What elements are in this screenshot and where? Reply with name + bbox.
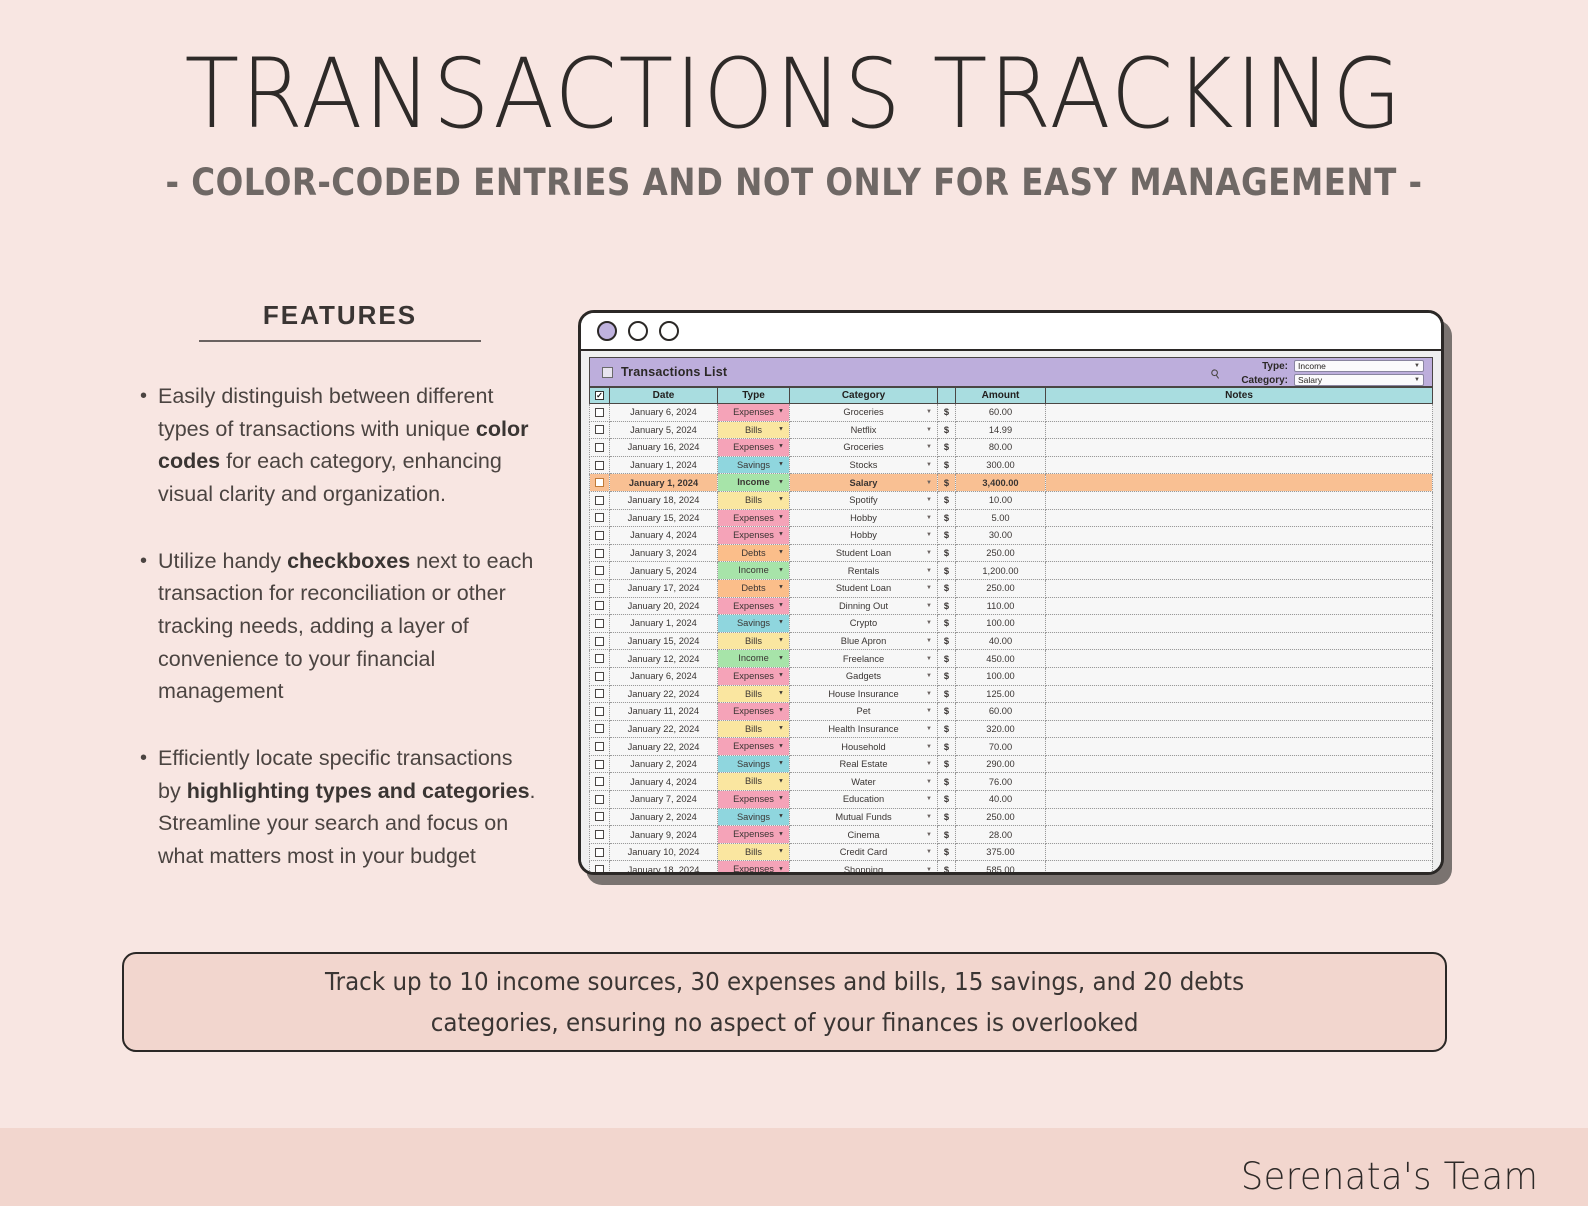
table-row[interactable]: January 18, 2024Expenses▼Shopping▼$585.0…: [590, 861, 1433, 872]
checkbox-icon[interactable]: [595, 425, 604, 434]
cell-category[interactable]: Cinema▼: [790, 826, 938, 844]
cell-amount[interactable]: 250.00: [956, 544, 1046, 562]
table-row[interactable]: January 11, 2024Expenses▼Pet▼$60.00: [590, 703, 1433, 721]
table-row[interactable]: January 5, 2024Bills▼Netflix▼$14.99: [590, 421, 1433, 439]
chevron-down-icon[interactable]: ▼: [926, 638, 932, 644]
chevron-down-icon[interactable]: ▼: [778, 633, 784, 650]
cell-category[interactable]: Crypto▼: [790, 615, 938, 633]
chevron-down-icon[interactable]: ▼: [926, 462, 932, 468]
chevron-down-icon[interactable]: ▼: [926, 708, 932, 714]
cell-amount[interactable]: 76.00: [956, 773, 1046, 791]
type-badge[interactable]: Debts▼: [718, 580, 789, 597]
cell-notes[interactable]: [1046, 544, 1433, 562]
cell-date[interactable]: January 4, 2024: [610, 527, 718, 545]
checkbox-icon[interactable]: [595, 848, 604, 857]
row-checkbox-cell[interactable]: [590, 685, 610, 703]
chevron-down-icon[interactable]: ▼: [778, 615, 784, 632]
chevron-down-icon[interactable]: ▼: [926, 779, 932, 785]
type-badge[interactable]: Bills▼: [718, 686, 789, 703]
cell-date[interactable]: January 5, 2024: [610, 562, 718, 580]
chevron-down-icon[interactable]: ▼: [778, 422, 784, 439]
checkbox-icon[interactable]: [595, 584, 604, 593]
cell-type[interactable]: Savings▼: [718, 615, 790, 633]
cell-category[interactable]: Spotify▼: [790, 491, 938, 509]
cell-amount[interactable]: 110.00: [956, 597, 1046, 615]
table-row[interactable]: January 2, 2024Savings▼Real Estate▼$290.…: [590, 755, 1433, 773]
chevron-down-icon[interactable]: ▼: [926, 691, 932, 697]
cell-amount[interactable]: 250.00: [956, 808, 1046, 826]
cell-date[interactable]: January 12, 2024: [610, 650, 718, 668]
chevron-down-icon[interactable]: ▼: [778, 527, 784, 544]
cell-type[interactable]: Savings▼: [718, 808, 790, 826]
cell-category[interactable]: Credit Card▼: [790, 843, 938, 861]
table-row[interactable]: January 6, 2024Expenses▼Groceries▼$60.00: [590, 404, 1433, 422]
table-row[interactable]: January 4, 2024Bills▼Water▼$76.00: [590, 773, 1433, 791]
column-header-notes[interactable]: Notes: [1046, 388, 1433, 404]
cell-category[interactable]: Water▼: [790, 773, 938, 791]
cell-category[interactable]: Health Insurance▼: [790, 720, 938, 738]
row-checkbox-cell[interactable]: [590, 615, 610, 633]
cell-notes[interactable]: [1046, 527, 1433, 545]
chevron-down-icon[interactable]: ▼: [778, 686, 784, 703]
cell-type[interactable]: Expenses▼: [718, 861, 790, 872]
cell-date[interactable]: January 4, 2024: [610, 773, 718, 791]
checkbox-icon[interactable]: [595, 830, 604, 839]
cell-date[interactable]: January 22, 2024: [610, 685, 718, 703]
cell-notes[interactable]: [1046, 632, 1433, 650]
cell-date[interactable]: January 2, 2024: [610, 808, 718, 826]
checkbox-icon[interactable]: [595, 654, 604, 663]
row-checkbox-cell[interactable]: [590, 826, 610, 844]
search-icon[interactable]: ⚲: [1208, 366, 1223, 383]
cell-notes[interactable]: [1046, 562, 1433, 580]
table-row[interactable]: January 2, 2024Savings▼Mutual Funds▼$250…: [590, 808, 1433, 826]
filter-category-select[interactable]: Salary ▼: [1294, 374, 1424, 386]
table-row[interactable]: January 7, 2024Expenses▼Education▼$40.00: [590, 791, 1433, 809]
cell-amount[interactable]: 320.00: [956, 720, 1046, 738]
select-all-checkbox-icon[interactable]: ✓: [595, 391, 604, 400]
table-row[interactable]: January 17, 2024Debts▼Student Loan▼$250.…: [590, 579, 1433, 597]
cell-category[interactable]: Rentals▼: [790, 562, 938, 580]
chevron-down-icon[interactable]: ▼: [926, 744, 932, 750]
cell-type[interactable]: Expenses▼: [718, 738, 790, 756]
checkbox-icon[interactable]: [595, 707, 604, 716]
cell-notes[interactable]: [1046, 791, 1433, 809]
cell-category[interactable]: Hobby▼: [790, 527, 938, 545]
chevron-down-icon[interactable]: ▼: [778, 861, 784, 872]
checkbox-icon[interactable]: [595, 461, 604, 470]
chevron-down-icon[interactable]: ▼: [926, 444, 932, 450]
chevron-down-icon[interactable]: ▼: [926, 849, 932, 855]
checkbox-icon[interactable]: [595, 443, 604, 452]
checkbox-icon[interactable]: [595, 865, 604, 872]
chevron-down-icon[interactable]: ▼: [926, 603, 932, 609]
type-badge[interactable]: Savings▼: [718, 756, 789, 773]
checkbox-icon[interactable]: [595, 777, 604, 786]
type-badge[interactable]: Savings▼: [718, 457, 789, 474]
cell-amount[interactable]: 300.00: [956, 456, 1046, 474]
cell-category[interactable]: Student Loan▼: [790, 544, 938, 562]
cell-category[interactable]: Netflix▼: [790, 421, 938, 439]
type-badge[interactable]: Bills▼: [718, 492, 789, 509]
cell-notes[interactable]: [1046, 685, 1433, 703]
row-checkbox-cell[interactable]: [590, 755, 610, 773]
chevron-down-icon[interactable]: ▼: [778, 510, 784, 527]
cell-notes[interactable]: [1046, 509, 1433, 527]
row-checkbox-cell[interactable]: [590, 703, 610, 721]
column-header-type[interactable]: Type: [718, 388, 790, 404]
row-checkbox-cell[interactable]: [590, 791, 610, 809]
cell-notes[interactable]: [1046, 667, 1433, 685]
cell-amount[interactable]: 70.00: [956, 738, 1046, 756]
chevron-down-icon[interactable]: ▼: [778, 721, 784, 738]
window-dot-3-icon[interactable]: [659, 321, 679, 341]
checkbox-icon[interactable]: [595, 637, 604, 646]
chevron-down-icon[interactable]: ▼: [926, 585, 932, 591]
checkbox-icon[interactable]: [595, 724, 604, 733]
cell-date[interactable]: January 1, 2024: [610, 474, 718, 492]
type-badge[interactable]: Expenses▼: [718, 826, 789, 843]
cell-notes[interactable]: [1046, 738, 1433, 756]
chevron-down-icon[interactable]: ▼: [778, 545, 784, 562]
cell-type[interactable]: Expenses▼: [718, 667, 790, 685]
chevron-down-icon[interactable]: ▼: [778, 826, 784, 843]
type-badge[interactable]: Expenses▼: [718, 439, 789, 456]
cell-type[interactable]: Expenses▼: [718, 826, 790, 844]
cell-amount[interactable]: 290.00: [956, 755, 1046, 773]
checkbox-icon[interactable]: [595, 742, 604, 751]
checkbox-icon[interactable]: [595, 812, 604, 821]
cell-notes[interactable]: [1046, 439, 1433, 457]
type-badge[interactable]: Expenses▼: [718, 703, 789, 720]
type-badge[interactable]: Expenses▼: [718, 791, 789, 808]
cell-date[interactable]: January 15, 2024: [610, 632, 718, 650]
chevron-down-icon[interactable]: ▼: [778, 492, 784, 509]
checkbox-icon[interactable]: [595, 672, 604, 681]
cell-date[interactable]: January 20, 2024: [610, 597, 718, 615]
cell-notes[interactable]: [1046, 474, 1433, 492]
cell-type[interactable]: Debts▼: [718, 544, 790, 562]
chevron-down-icon[interactable]: ▼: [778, 580, 784, 597]
chevron-down-icon[interactable]: ▼: [778, 457, 784, 474]
cell-type[interactable]: Expenses▼: [718, 703, 790, 721]
cell-category[interactable]: Pet▼: [790, 703, 938, 721]
cell-date[interactable]: January 1, 2024: [610, 456, 718, 474]
table-row[interactable]: January 10, 2024Bills▼Credit Card▼$375.0…: [590, 843, 1433, 861]
table-row[interactable]: January 3, 2024Debts▼Student Loan▼$250.0…: [590, 544, 1433, 562]
cell-type[interactable]: Bills▼: [718, 421, 790, 439]
chevron-down-icon[interactable]: ▼: [926, 427, 932, 433]
cell-type[interactable]: Income▼: [718, 562, 790, 580]
row-checkbox-cell[interactable]: [590, 650, 610, 668]
cell-type[interactable]: Bills▼: [718, 685, 790, 703]
cell-amount[interactable]: 10.00: [956, 491, 1046, 509]
cell-notes[interactable]: [1046, 773, 1433, 791]
type-badge[interactable]: Bills▼: [718, 633, 789, 650]
cell-notes[interactable]: [1046, 404, 1433, 422]
cell-amount[interactable]: 40.00: [956, 632, 1046, 650]
chevron-down-icon[interactable]: ▼: [926, 673, 932, 679]
table-row[interactable]: January 1, 2024Savings▼Crypto▼$100.00: [590, 615, 1433, 633]
cell-type[interactable]: Bills▼: [718, 720, 790, 738]
cell-notes[interactable]: [1046, 421, 1433, 439]
cell-notes[interactable]: [1046, 861, 1433, 872]
table-row[interactable]: January 5, 2024Income▼Rentals▼$1,200.00: [590, 562, 1433, 580]
checkbox-icon[interactable]: [595, 795, 604, 804]
cell-type[interactable]: Expenses▼: [718, 527, 790, 545]
checkbox-icon[interactable]: [595, 513, 604, 522]
select-all-header[interactable]: ✓: [590, 388, 610, 404]
checkbox-icon[interactable]: [595, 566, 604, 575]
cell-notes[interactable]: [1046, 720, 1433, 738]
chevron-down-icon[interactable]: ▼: [926, 832, 932, 838]
cell-date[interactable]: January 6, 2024: [610, 404, 718, 422]
table-row[interactable]: January 22, 2024Bills▼House Insurance▼$1…: [590, 685, 1433, 703]
table-row[interactable]: January 1, 2024Savings▼Stocks▼$300.00: [590, 456, 1433, 474]
cell-date[interactable]: January 1, 2024: [610, 615, 718, 633]
type-badge[interactable]: Expenses▼: [718, 738, 789, 755]
cell-date[interactable]: January 6, 2024: [610, 667, 718, 685]
type-badge[interactable]: Expenses▼: [718, 527, 789, 544]
type-badge[interactable]: Expenses▼: [718, 598, 789, 615]
cell-date[interactable]: January 2, 2024: [610, 755, 718, 773]
type-badge[interactable]: Savings▼: [718, 809, 789, 826]
row-checkbox-cell[interactable]: [590, 808, 610, 826]
cell-date[interactable]: January 18, 2024: [610, 491, 718, 509]
cell-category[interactable]: Education▼: [790, 791, 938, 809]
type-badge[interactable]: Bills▼: [718, 422, 789, 439]
chevron-down-icon[interactable]: ▼: [926, 726, 932, 732]
cell-date[interactable]: January 10, 2024: [610, 843, 718, 861]
cell-category[interactable]: Shopping▼: [790, 861, 938, 872]
cell-amount[interactable]: 1,200.00: [956, 562, 1046, 580]
cell-type[interactable]: Expenses▼: [718, 791, 790, 809]
cell-amount[interactable]: 125.00: [956, 685, 1046, 703]
type-badge[interactable]: Bills▼: [718, 721, 789, 738]
cell-amount[interactable]: 5.00: [956, 509, 1046, 527]
cell-category[interactable]: Freelance▼: [790, 650, 938, 668]
chevron-down-icon[interactable]: ▼: [926, 409, 932, 415]
cell-category[interactable]: Mutual Funds▼: [790, 808, 938, 826]
cell-category[interactable]: Groceries▼: [790, 404, 938, 422]
cell-amount[interactable]: 3,400.00: [956, 474, 1046, 492]
cell-category[interactable]: Groceries▼: [790, 439, 938, 457]
checkbox-icon[interactable]: [595, 478, 604, 487]
table-row[interactable]: January 9, 2024Expenses▼Cinema▼$28.00: [590, 826, 1433, 844]
chevron-down-icon[interactable]: ▼: [926, 867, 932, 872]
chevron-down-icon[interactable]: ▼: [778, 404, 784, 421]
type-badge[interactable]: Income▼: [718, 562, 789, 579]
row-checkbox-cell[interactable]: [590, 527, 610, 545]
chevron-down-icon[interactable]: ▼: [778, 844, 784, 861]
type-badge[interactable]: Expenses▼: [718, 510, 789, 527]
row-checkbox-cell[interactable]: [590, 738, 610, 756]
chevron-down-icon[interactable]: ▼: [778, 668, 784, 685]
table-row[interactable]: January 4, 2024Expenses▼Hobby▼$30.00: [590, 527, 1433, 545]
cell-date[interactable]: January 9, 2024: [610, 826, 718, 844]
row-checkbox-cell[interactable]: [590, 509, 610, 527]
table-row[interactable]: January 22, 2024Expenses▼Household▼$70.0…: [590, 738, 1433, 756]
cell-date[interactable]: January 18, 2024: [610, 861, 718, 872]
table-row[interactable]: January 15, 2024Expenses▼Hobby▼$5.00: [590, 509, 1433, 527]
type-badge[interactable]: Bills▼: [718, 773, 789, 790]
cell-date[interactable]: January 17, 2024: [610, 579, 718, 597]
table-row[interactable]: January 1, 2024Income▼Salary▼$3,400.00: [590, 474, 1433, 492]
chevron-down-icon[interactable]: ▼: [926, 497, 932, 503]
cell-amount[interactable]: 250.00: [956, 579, 1046, 597]
column-header-date[interactable]: Date: [610, 388, 718, 404]
cell-date[interactable]: January 5, 2024: [610, 421, 718, 439]
chevron-down-icon[interactable]: ▼: [926, 480, 932, 486]
cell-amount[interactable]: 28.00: [956, 826, 1046, 844]
toolbar-checkbox-icon[interactable]: [602, 367, 613, 378]
cell-notes[interactable]: [1046, 703, 1433, 721]
row-checkbox-cell[interactable]: [590, 597, 610, 615]
cell-type[interactable]: Savings▼: [718, 755, 790, 773]
chevron-down-icon[interactable]: ▼: [778, 773, 784, 790]
cell-category[interactable]: Dinning Out▼: [790, 597, 938, 615]
chevron-down-icon[interactable]: ▼: [926, 761, 932, 767]
chevron-down-icon[interactable]: ▼: [778, 439, 784, 456]
cell-type[interactable]: Expenses▼: [718, 404, 790, 422]
cell-type[interactable]: Expenses▼: [718, 439, 790, 457]
cell-date[interactable]: January 11, 2024: [610, 703, 718, 721]
chevron-down-icon[interactable]: ▼: [926, 814, 932, 820]
cell-type[interactable]: Income▼: [718, 650, 790, 668]
type-badge[interactable]: Expenses▼: [718, 404, 789, 421]
chevron-down-icon[interactable]: ▼: [778, 562, 784, 579]
chevron-down-icon[interactable]: ▼: [926, 620, 932, 626]
cell-amount[interactable]: 60.00: [956, 404, 1046, 422]
cell-amount[interactable]: 40.00: [956, 791, 1046, 809]
cell-amount[interactable]: 375.00: [956, 843, 1046, 861]
window-dot-2-icon[interactable]: [628, 321, 648, 341]
cell-type[interactable]: Bills▼: [718, 491, 790, 509]
type-badge[interactable]: Income▼: [718, 474, 789, 491]
cell-type[interactable]: Bills▼: [718, 632, 790, 650]
cell-type[interactable]: Bills▼: [718, 843, 790, 861]
cell-category[interactable]: Blue Apron▼: [790, 632, 938, 650]
type-badge[interactable]: Expenses▼: [718, 668, 789, 685]
chevron-down-icon[interactable]: ▼: [926, 532, 932, 538]
cell-notes[interactable]: [1046, 650, 1433, 668]
row-checkbox-cell[interactable]: [590, 404, 610, 422]
cell-notes[interactable]: [1046, 615, 1433, 633]
chevron-down-icon[interactable]: ▼: [778, 703, 784, 720]
cell-amount[interactable]: 80.00: [956, 439, 1046, 457]
cell-category[interactable]: House Insurance▼: [790, 685, 938, 703]
cell-category[interactable]: Gadgets▼: [790, 667, 938, 685]
row-checkbox-cell[interactable]: [590, 562, 610, 580]
cell-amount[interactable]: 14.99: [956, 421, 1046, 439]
cell-amount[interactable]: 60.00: [956, 703, 1046, 721]
cell-notes[interactable]: [1046, 579, 1433, 597]
checkbox-icon[interactable]: [595, 408, 604, 417]
checkbox-icon[interactable]: [595, 549, 604, 558]
cell-amount[interactable]: 100.00: [956, 615, 1046, 633]
checkbox-icon[interactable]: [595, 760, 604, 769]
chevron-down-icon[interactable]: ▼: [778, 756, 784, 773]
table-row[interactable]: January 20, 2024Expenses▼Dinning Out▼$11…: [590, 597, 1433, 615]
row-checkbox-cell[interactable]: [590, 491, 610, 509]
table-row[interactable]: January 15, 2024Bills▼Blue Apron▼$40.00: [590, 632, 1433, 650]
cell-type[interactable]: Debts▼: [718, 579, 790, 597]
checkbox-icon[interactable]: [595, 619, 604, 628]
row-checkbox-cell[interactable]: [590, 579, 610, 597]
cell-category[interactable]: Salary▼: [790, 474, 938, 492]
table-row[interactable]: January 16, 2024Expenses▼Groceries▼$80.0…: [590, 439, 1433, 457]
cell-amount[interactable]: 100.00: [956, 667, 1046, 685]
checkbox-icon[interactable]: [595, 601, 604, 610]
column-header-amount[interactable]: Amount: [956, 388, 1046, 404]
cell-date[interactable]: January 3, 2024: [610, 544, 718, 562]
cell-date[interactable]: January 16, 2024: [610, 439, 718, 457]
chevron-down-icon[interactable]: ▼: [778, 474, 784, 491]
cell-notes[interactable]: [1046, 808, 1433, 826]
type-badge[interactable]: Expenses▼: [718, 861, 789, 872]
cell-notes[interactable]: [1046, 826, 1433, 844]
chevron-down-icon[interactable]: ▼: [778, 809, 784, 826]
chevron-down-icon[interactable]: ▼: [778, 650, 784, 667]
table-row[interactable]: January 18, 2024Bills▼Spotify▼$10.00: [590, 491, 1433, 509]
type-badge[interactable]: Bills▼: [718, 844, 789, 861]
chevron-down-icon[interactable]: ▼: [926, 656, 932, 662]
type-badge[interactable]: Income▼: [718, 650, 789, 667]
cell-category[interactable]: Stocks▼: [790, 456, 938, 474]
row-checkbox-cell[interactable]: [590, 667, 610, 685]
chevron-down-icon[interactable]: ▼: [926, 796, 932, 802]
table-row[interactable]: January 6, 2024Expenses▼Gadgets▼$100.00: [590, 667, 1433, 685]
type-badge[interactable]: Savings▼: [718, 615, 789, 632]
chevron-down-icon[interactable]: ▼: [926, 568, 932, 574]
cell-amount[interactable]: 450.00: [956, 650, 1046, 668]
table-row[interactable]: January 12, 2024Income▼Freelance▼$450.00: [590, 650, 1433, 668]
checkbox-icon[interactable]: [595, 496, 604, 505]
cell-type[interactable]: Income▼: [718, 474, 790, 492]
row-checkbox-cell[interactable]: [590, 456, 610, 474]
cell-notes[interactable]: [1046, 456, 1433, 474]
row-checkbox-cell[interactable]: [590, 439, 610, 457]
cell-date[interactable]: January 15, 2024: [610, 509, 718, 527]
row-checkbox-cell[interactable]: [590, 843, 610, 861]
row-checkbox-cell[interactable]: [590, 861, 610, 872]
cell-type[interactable]: Bills▼: [718, 773, 790, 791]
row-checkbox-cell[interactable]: [590, 773, 610, 791]
cell-notes[interactable]: [1046, 843, 1433, 861]
cell-date[interactable]: January 22, 2024: [610, 720, 718, 738]
cell-date[interactable]: January 22, 2024: [610, 738, 718, 756]
cell-type[interactable]: Expenses▼: [718, 509, 790, 527]
chevron-down-icon[interactable]: ▼: [926, 550, 932, 556]
table-row[interactable]: January 22, 2024Bills▼Health Insurance▼$…: [590, 720, 1433, 738]
checkbox-icon[interactable]: [595, 531, 604, 540]
type-badge[interactable]: Debts▼: [718, 545, 789, 562]
row-checkbox-cell[interactable]: [590, 720, 610, 738]
row-checkbox-cell[interactable]: [590, 544, 610, 562]
cell-date[interactable]: January 7, 2024: [610, 791, 718, 809]
cell-category[interactable]: Student Loan▼: [790, 579, 938, 597]
cell-type[interactable]: Savings▼: [718, 456, 790, 474]
cell-category[interactable]: Real Estate▼: [790, 755, 938, 773]
row-checkbox-cell[interactable]: [590, 421, 610, 439]
row-checkbox-cell[interactable]: [590, 474, 610, 492]
cell-amount[interactable]: 30.00: [956, 527, 1046, 545]
cell-category[interactable]: Household▼: [790, 738, 938, 756]
column-header-category[interactable]: Category: [790, 388, 938, 404]
cell-amount[interactable]: 585.00: [956, 861, 1046, 872]
chevron-down-icon[interactable]: ▼: [778, 738, 784, 755]
cell-type[interactable]: Expenses▼: [718, 597, 790, 615]
